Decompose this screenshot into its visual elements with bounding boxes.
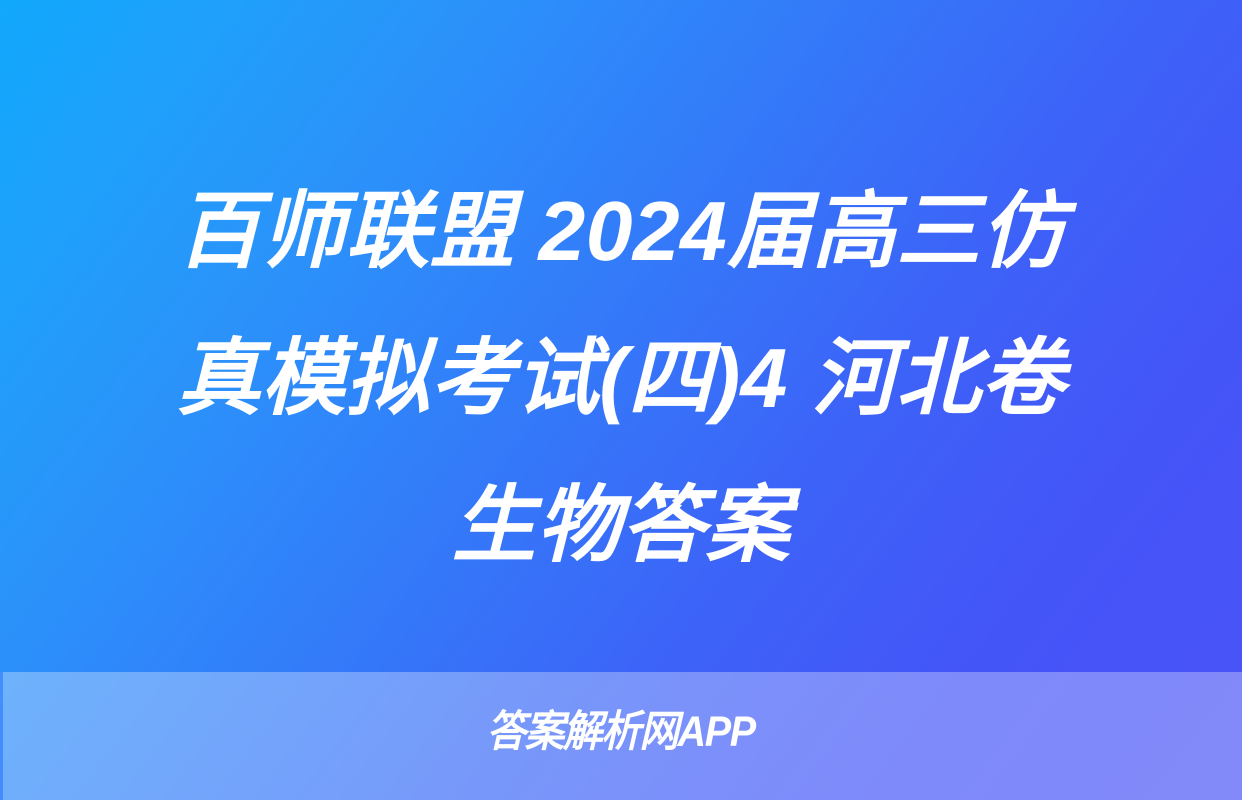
title-line-1: 百师联盟 2024届高三仿 (72, 158, 1170, 305)
title-line-2: 真模拟考试(四)4 河北卷 (72, 305, 1170, 452)
watermark-label: 答案解析网APP (487, 705, 755, 759)
poster-canvas: 百师联盟 2024届高三仿 真模拟考试(四)4 河北卷 生物答案 答案解析网AP… (0, 0, 1242, 800)
watermark: 答案解析网APP (0, 705, 1242, 759)
title-line-3: 生物答案 (72, 452, 1170, 599)
page-title: 百师联盟 2024届高三仿 真模拟考试(四)4 河北卷 生物答案 (0, 158, 1242, 599)
